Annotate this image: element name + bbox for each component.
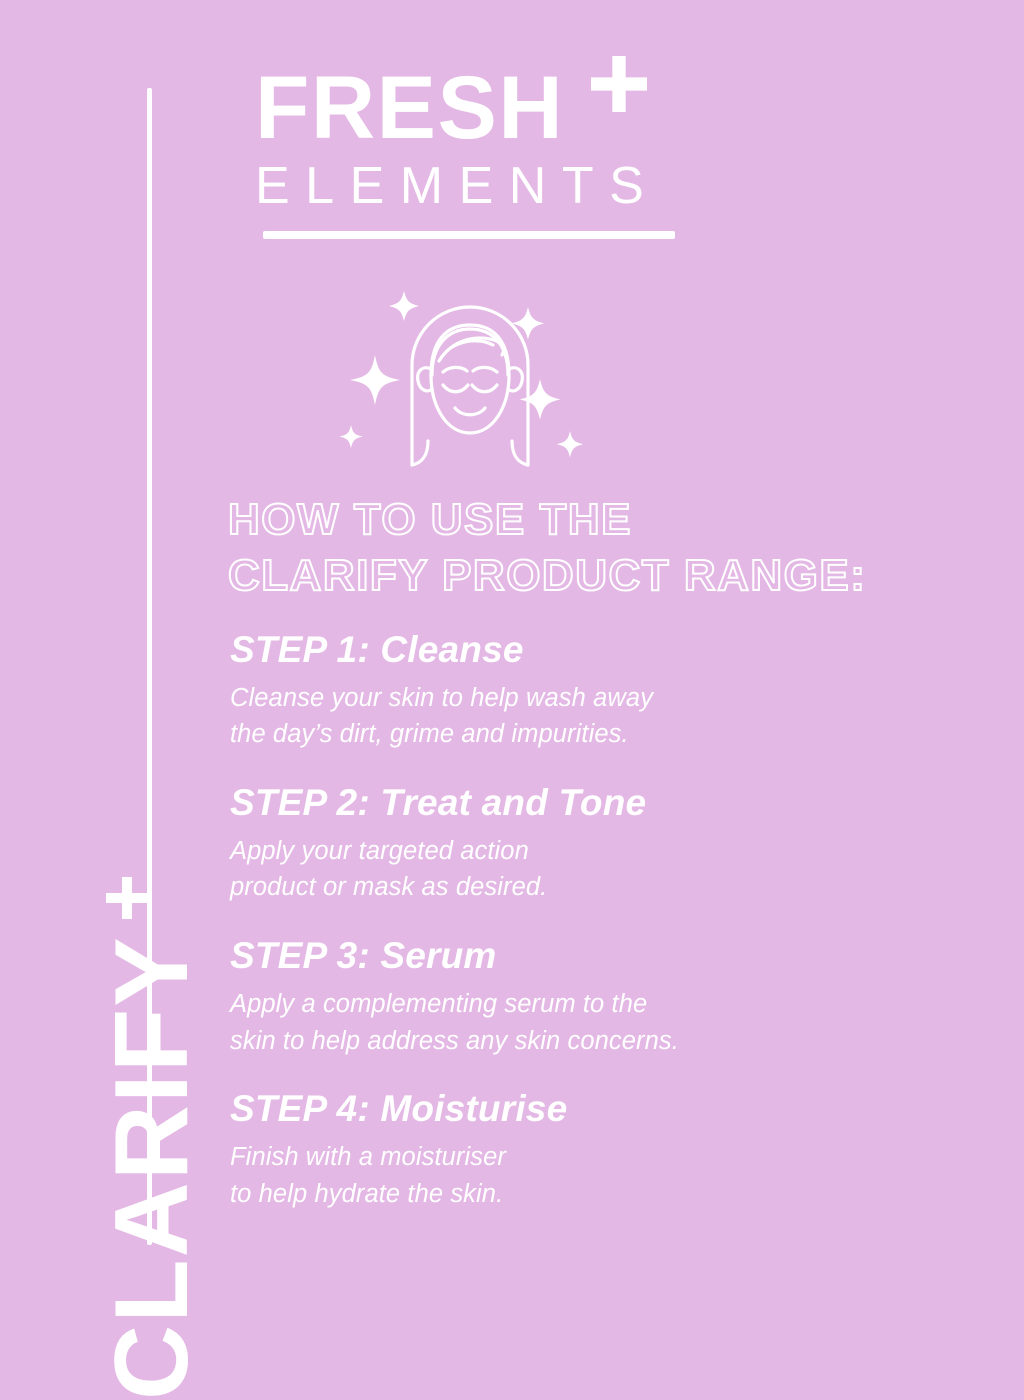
step-body-line: Apply your targeted action xyxy=(230,833,1000,870)
vertical-divider-line xyxy=(147,88,152,1245)
logo-underline-rule xyxy=(263,231,675,239)
section-heading-line-2: CLARIFY PRODUCT RANGE: xyxy=(228,548,988,604)
step-body: Apply your targeted action product or ma… xyxy=(230,833,1000,906)
step-item: STEP 1: Cleanse Cleanse your skin to hel… xyxy=(230,628,1000,753)
poster-canvas: CLARIFY FRESH ELEMENTS xyxy=(0,0,1024,1332)
logo-primary-text: FRESH xyxy=(255,62,564,153)
brand-logo: FRESH ELEMENTS xyxy=(255,62,695,239)
plus-icon xyxy=(106,877,153,919)
step-body-line: to help hydrate the skin. xyxy=(230,1176,1000,1213)
logo-secondary-text: ELEMENTS xyxy=(255,159,695,214)
plus-icon xyxy=(591,56,647,117)
step-body-line: Cleanse your skin to help wash away xyxy=(230,680,1000,717)
steps-list: STEP 1: Cleanse Cleanse your skin to hel… xyxy=(230,628,1000,1212)
section-heading: HOW TO USE THE CLARIFY PRODUCT RANGE: xyxy=(228,492,988,604)
step-title: STEP 4: Moisturise xyxy=(230,1087,1000,1131)
section-heading-line-1: HOW TO USE THE xyxy=(228,492,988,548)
step-body-line: the day’s dirt, grime and impurities. xyxy=(230,716,1000,753)
step-body: Finish with a moisturiser to help hydrat… xyxy=(230,1139,1000,1212)
face-with-closed-eyes-icon xyxy=(330,283,610,473)
step-title: STEP 3: Serum xyxy=(230,934,1000,978)
step-item: STEP 4: Moisturise Finish with a moistur… xyxy=(230,1087,1000,1212)
step-body-line: product or mask as desired. xyxy=(230,869,1000,906)
step-title: STEP 1: Cleanse xyxy=(230,628,1000,672)
vertical-brand: CLARIFY xyxy=(100,400,204,1400)
step-body: Cleanse your skin to help wash away the … xyxy=(230,680,1000,753)
step-body-line: skin to help address any skin concerns. xyxy=(230,1023,1000,1060)
step-item: STEP 3: Serum Apply a complementing seru… xyxy=(230,934,1000,1059)
step-body-line: Apply a complementing serum to the xyxy=(230,986,1000,1023)
step-body: Apply a complementing serum to the skin … xyxy=(230,986,1000,1059)
vertical-brand-label: CLARIFY xyxy=(100,935,204,1400)
step-item: STEP 2: Treat and Tone Apply your target… xyxy=(230,781,1000,906)
step-body-line: Finish with a moisturiser xyxy=(230,1139,1000,1176)
left-rail: CLARIFY xyxy=(0,0,160,1332)
step-title: STEP 2: Treat and Tone xyxy=(230,781,1000,825)
